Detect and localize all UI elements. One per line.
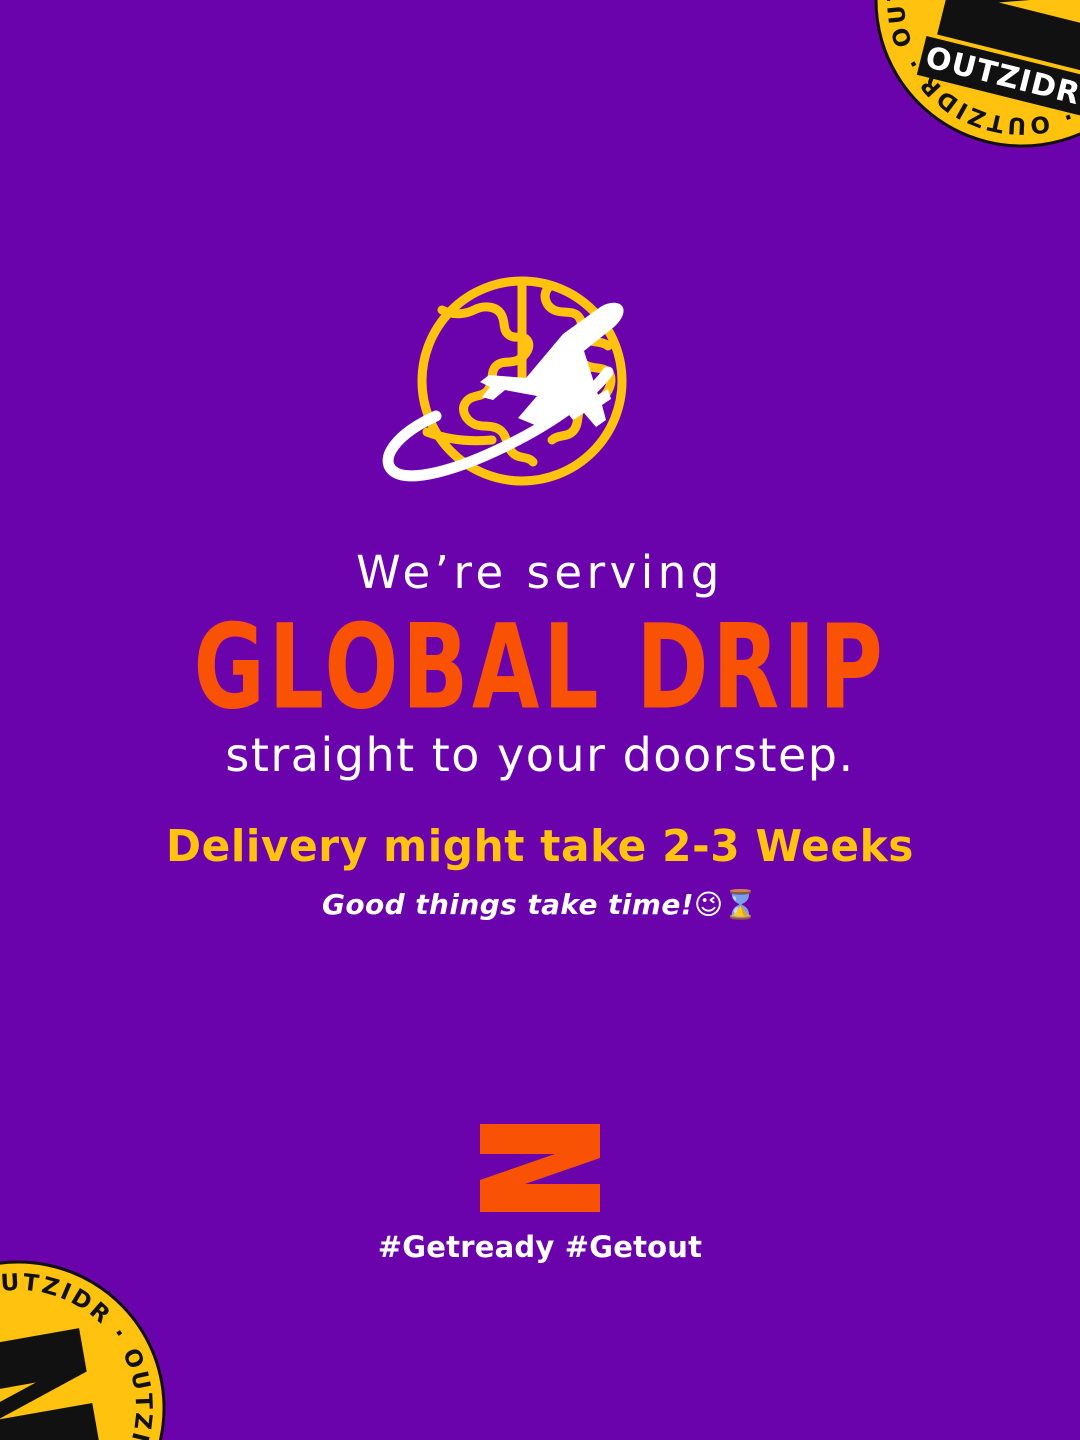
- delivery-estimate: Delivery might take 2-3 Weeks: [22, 822, 1059, 872]
- delivery-notice: Delivery might take 2-3 Weeks Good thing…: [0, 822, 1080, 921]
- delivery-subnote: Good things take time!😉⌛: [0, 888, 1080, 921]
- footer-brand: #Getready #Getout: [0, 1122, 1080, 1264]
- headline-group: We’re serving GLOBAL DRIP straight to yo…: [0, 548, 1080, 781]
- brand-sticker-bottom-left: OUTZIDR · OUTZIDR · OUTZIDR · OUTZIDR · …: [0, 1234, 192, 1440]
- hourglass-icon: ⌛: [723, 888, 758, 921]
- hashtags: #Getready #Getout: [0, 1230, 1080, 1264]
- globe-airplane-icon: [370, 272, 710, 504]
- subtitle-line: straight to your doorstep.: [0, 730, 1080, 781]
- promo-poster: OUTZIDR · OUTZIDR · OUTZIDR · OUTZIDR · …: [0, 0, 1080, 1440]
- hero-artwork: [0, 272, 1080, 504]
- page-title: GLOBAL DRIP: [38, 608, 1042, 727]
- z-logo-icon: [478, 1122, 602, 1214]
- intro-line: We’re serving: [0, 548, 1080, 598]
- wink-face-icon: 😉: [694, 888, 723, 921]
- sticker-badge-icon: OUTZIDR · OUTZIDR · OUTZIDR · OUTZIDR · …: [0, 1234, 192, 1440]
- sticker-badge-icon: OUTZIDR · OUTZIDR · OUTZIDR · OUTZIDR · …: [840, 0, 1080, 182]
- brand-sticker-top-right: OUTZIDR · OUTZIDR · OUTZIDR · OUTZIDR · …: [840, 0, 1080, 182]
- delivery-subnote-text: Good things take time!: [322, 888, 694, 921]
